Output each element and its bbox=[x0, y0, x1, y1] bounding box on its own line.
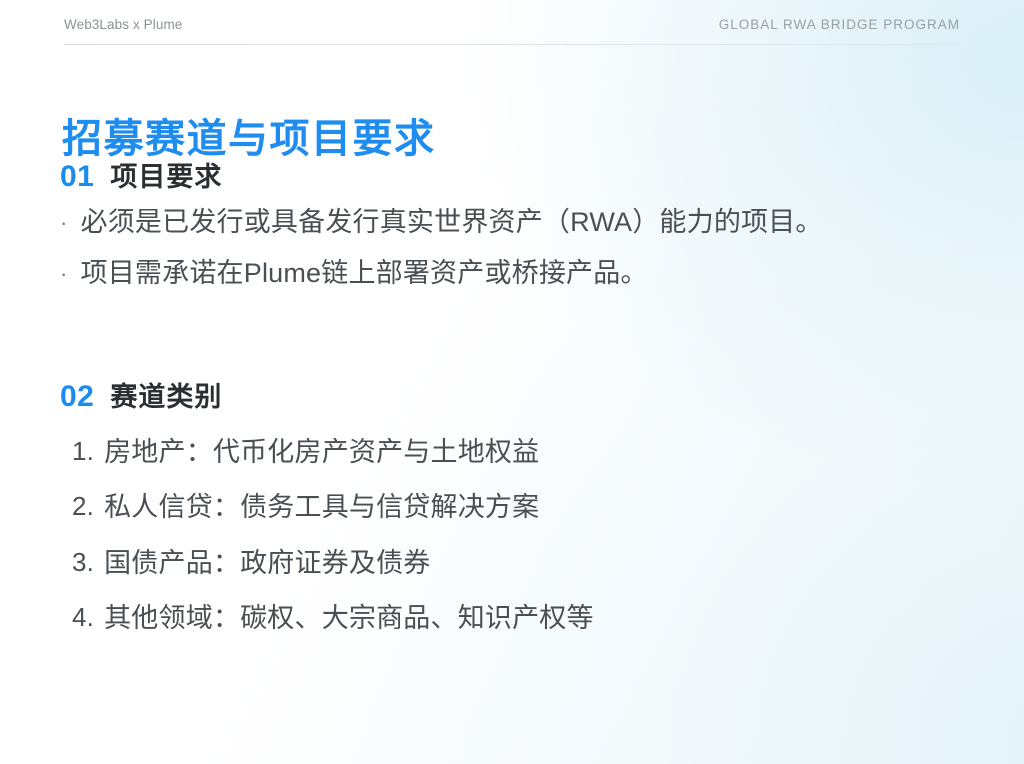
list-item-text: 国债产品：政府证券及债券 bbox=[104, 549, 984, 577]
section-track-categories: 02 赛道类别 1. 房地产：代币化房产资产与土地权益 2. 私人信贷：债务工具… bbox=[60, 382, 984, 659]
section-number: 02 bbox=[60, 382, 94, 412]
page-title: 招募赛道与项目要求 bbox=[62, 115, 436, 163]
list-item-text: 项目需承诺在Plume链上部署资产或桥接产品。 bbox=[81, 259, 648, 287]
section-title: 赛道类别 bbox=[110, 384, 222, 411]
slide-canvas: Web3Labs x Plume GLOBAL RWA BRIDGE PROGR… bbox=[0, 0, 1024, 764]
bullet-dot-icon: · bbox=[60, 260, 68, 288]
list-item: 3. 国债产品：政府证券及债券 bbox=[60, 549, 984, 577]
list-item-text: 私人信贷：债务工具与信贷解决方案 bbox=[104, 493, 984, 521]
list-item-number: 4. bbox=[72, 604, 94, 631]
section-heading: 02 赛道类别 bbox=[60, 382, 984, 412]
requirements-list: · 必须是已发行或具备发行真实世界资产（RWA）能力的项目。 · 项目需承诺在P… bbox=[60, 208, 984, 287]
section-heading: 01 项目要求 bbox=[60, 162, 984, 192]
list-item-number: 2. bbox=[72, 493, 94, 520]
list-item: 1. 房地产：代币化房产资产与土地权益 bbox=[60, 438, 984, 466]
bullet-dot-icon: · bbox=[60, 209, 68, 237]
list-item-number: 1. bbox=[72, 438, 94, 465]
header-brand-label: Web3Labs x Plume bbox=[64, 16, 182, 34]
list-item: · 项目需承诺在Plume链上部署资产或桥接产品。 bbox=[60, 259, 984, 288]
header-divider bbox=[64, 44, 960, 45]
list-item-text: 必须是已发行或具备发行真实世界资产（RWA）能力的项目。 bbox=[81, 208, 823, 236]
list-item: 4. 其他领域：碳权、大宗商品、知识产权等 bbox=[60, 604, 984, 632]
track-categories-list: 1. 房地产：代币化房产资产与土地权益 2. 私人信贷：债务工具与信贷解决方案 … bbox=[60, 438, 984, 632]
list-item: · 必须是已发行或具备发行真实世界资产（RWA）能力的项目。 bbox=[60, 208, 984, 237]
list-item-text: 房地产：代币化房产资产与土地权益 bbox=[104, 438, 984, 466]
header-program-label: GLOBAL RWA BRIDGE PROGRAM bbox=[719, 16, 960, 34]
list-item-text: 其他领域：碳权、大宗商品、知识产权等 bbox=[104, 604, 984, 632]
list-item-number: 3. bbox=[72, 549, 94, 576]
section-title: 项目要求 bbox=[110, 164, 222, 191]
section-project-requirements: 01 项目要求 · 必须是已发行或具备发行真实世界资产（RWA）能力的项目。 ·… bbox=[60, 162, 984, 309]
section-number: 01 bbox=[60, 162, 94, 192]
list-item: 2. 私人信贷：债务工具与信贷解决方案 bbox=[60, 493, 984, 521]
